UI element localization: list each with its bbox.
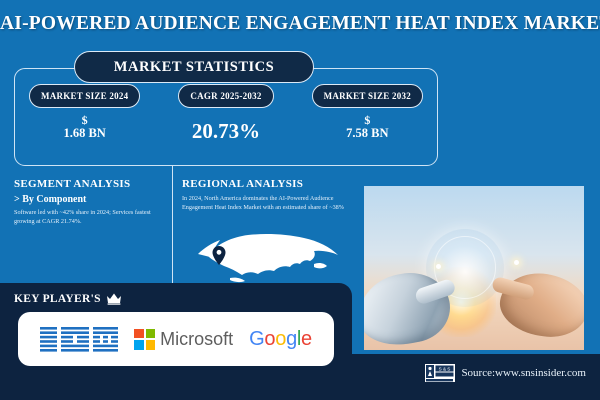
photo-spark-left [436,264,441,269]
segment-analysis-subheading: > By Component [14,194,164,205]
regional-analysis-body: In 2024, North America dominates the AI-… [182,195,350,213]
crown-icon [106,292,122,305]
stat-cagr: CAGR 2025-2032 20.73% [155,84,296,166]
microsoft-squares-icon [134,329,155,350]
stat-market-size-2024: MARKET SIZE 2024 $ 1.68 BN [14,84,155,166]
hero-image-ai-handshake [360,182,588,354]
source-text: Source:www.snsinsider.com [461,367,586,379]
google-logo: Google [249,328,312,351]
regional-analysis-heading: REGIONAL ANALYSIS [182,178,350,190]
stat-label-market-size-2032: MARKET SIZE 2032 [312,84,423,108]
stat-market-size-2032: MARKET SIZE 2032 $ 7.58 BN [297,84,438,166]
microsoft-wordmark: Microsoft [160,329,233,350]
key-players-logo-strip: Microsoft Google [18,312,334,366]
page-title: AI-POWERED AUDIENCE ENGAGEMENT HEAT INDE… [0,13,600,35]
stat-value-market-size-2024: $ 1.68 BN [63,114,105,140]
market-statistics-row: MARKET SIZE 2024 $ 1.68 BN CAGR 2025-203… [14,84,438,166]
segment-analysis-section: SEGMENT ANALYSIS > By Component Software… [14,178,164,227]
amount-2032: 7.58 BN [346,126,388,140]
source-attribution: S & S Source:www.snsinsider.com [425,364,586,382]
photo-spark-right [514,260,519,265]
key-players-heading: KEY PLAYER'S [14,293,101,305]
sns-insider-logo-icon: S & S [425,364,455,382]
stat-value-cagr: 20.73% [192,120,260,142]
segment-analysis-heading: SEGMENT ANALYSIS [14,178,164,190]
ibm-logo [40,324,118,354]
microsoft-logo: Microsoft [134,329,233,350]
stat-value-market-size-2032: $ 7.58 BN [346,114,388,140]
world-map-graphic [186,228,346,290]
market-statistics-heading: MARKET STATISTICS [74,51,314,83]
amount-2024: 1.68 BN [63,126,105,140]
regional-analysis-section: REGIONAL ANALYSIS In 2024, North America… [182,178,350,213]
stat-label-market-size-2024: MARKET SIZE 2024 [29,84,140,108]
infographic-canvas: AI-POWERED AUDIENCE ENGAGEMENT HEAT INDE… [0,0,600,400]
segment-analysis-body: Software led with ~42% share in 2024; Se… [14,209,164,227]
key-players-heading-group: KEY PLAYER'S [14,292,122,305]
stat-label-cagr: CAGR 2025-2032 [178,84,273,108]
svg-text:S & S: S & S [439,366,451,371]
section-divider-line [172,166,173,288]
